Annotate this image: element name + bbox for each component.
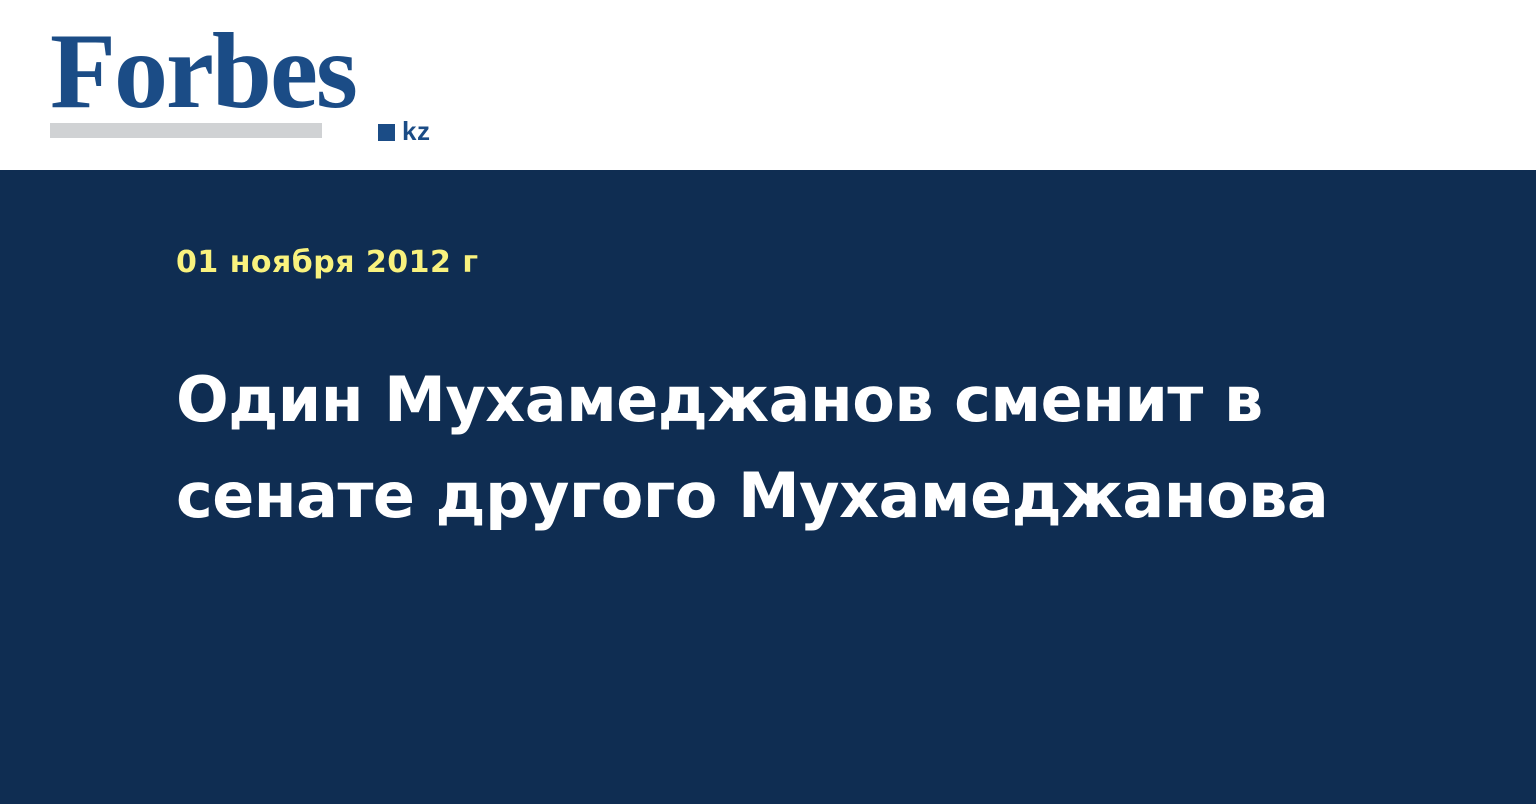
- site-header: Forbes kz: [0, 0, 1536, 170]
- forbes-wordmark: Forbes: [50, 18, 356, 126]
- article-hero: 01 ноября 2012 г Один Мухамеджанов смени…: [0, 170, 1536, 804]
- logo-locale-suffix: kz: [402, 118, 430, 144]
- square-icon: [378, 124, 395, 141]
- forbes-kz-logo[interactable]: Forbes kz: [50, 26, 410, 141]
- page-title: Один Мухамеджанов сменит в сенате другог…: [176, 352, 1366, 544]
- article-card-page: Forbes kz 01 ноября 2012 г Один Мухамедж…: [0, 0, 1536, 804]
- article-date: 01 ноября 2012 г: [176, 248, 479, 278]
- logo-underline-bar: [50, 123, 322, 138]
